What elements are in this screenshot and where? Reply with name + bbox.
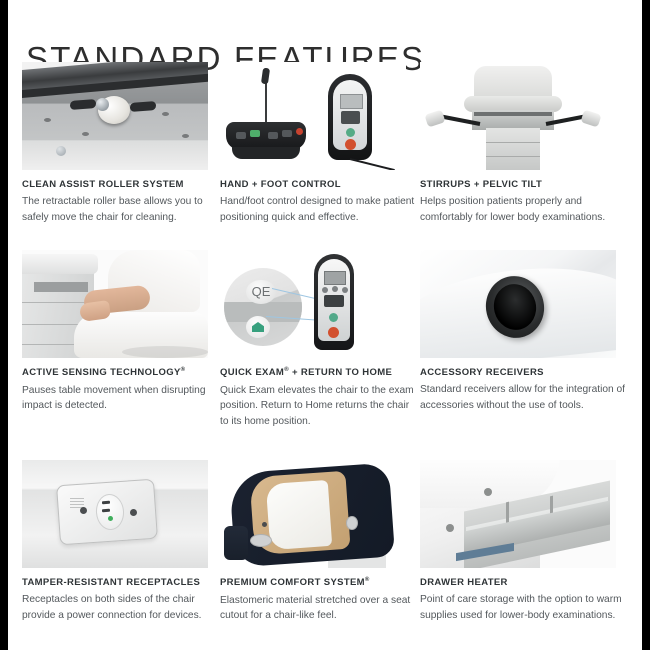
feature-image-clean-assist-roller-system bbox=[22, 62, 208, 170]
feature-image-hand-foot-control bbox=[220, 62, 406, 170]
feature-card-hand-foot-control: HAND + FOOT CONTROL Hand/foot control de… bbox=[220, 62, 416, 225]
brochure-page: STANDARD FEATURES CLEAN ASSIST ROLLER bbox=[8, 0, 642, 650]
feature-card-tamper-resistant-receptacles: TAMPER-RESISTANT RECEPTACLES Receptacles… bbox=[22, 460, 218, 623]
feature-body: Hand/foot control designed to make patie… bbox=[220, 194, 416, 225]
feature-title: PREMIUM COMFORT SYSTEM® bbox=[220, 577, 416, 590]
feature-title: ACTIVE SENSING TECHNOLOGY® bbox=[22, 367, 218, 380]
feature-body: Receptacles on both sides of the chair p… bbox=[22, 592, 218, 623]
feature-title: TAMPER-RESISTANT RECEPTACLES bbox=[22, 577, 218, 589]
feature-title-text: ACTIVE SENSING TECHNOLOGY bbox=[22, 367, 181, 378]
feature-card-drawer-heater: DRAWER HEATER Point of care storage with… bbox=[420, 460, 630, 623]
feature-image-accessory-receivers bbox=[420, 250, 616, 358]
features-row-1: CLEAN ASSIST ROLLER SYSTEM The retractab… bbox=[8, 62, 642, 250]
feature-body: Pauses table movement when disrupting im… bbox=[22, 383, 218, 414]
features-grid: CLEAN ASSIST ROLLER SYSTEM The retractab… bbox=[8, 62, 642, 650]
feature-image-tamper-resistant-receptacles bbox=[22, 460, 208, 568]
feature-title: CLEAN ASSIST ROLLER SYSTEM bbox=[22, 179, 218, 191]
feature-title-text: PREMIUM COMFORT SYSTEM bbox=[220, 577, 365, 588]
feature-body: Quick Exam elevates the chair to the exa… bbox=[220, 383, 416, 430]
feature-body: Elastomeric material stretched over a se… bbox=[220, 593, 416, 624]
feature-title: DRAWER HEATER bbox=[420, 577, 630, 589]
feature-title: STIRRUPS + PELVIC TILT bbox=[420, 179, 630, 191]
feature-body: Point of care storage with the option to… bbox=[420, 592, 628, 623]
feature-card-active-sensing-technology: ACTIVE SENSING TECHNOLOGY® Pauses table … bbox=[22, 250, 218, 414]
feature-image-drawer-heater bbox=[420, 460, 616, 568]
feature-body: The retractable roller base allows you t… bbox=[22, 194, 218, 225]
feature-title: ACCESSORY RECEIVERS bbox=[420, 367, 630, 379]
feature-card-accessory-receivers: ACCESSORY RECEIVERS Standard receivers a… bbox=[420, 250, 630, 413]
feature-image-premium-comfort-system bbox=[220, 460, 406, 568]
feature-title-text: QUICK EXAM bbox=[220, 367, 284, 378]
registered-trademark-icon: ® bbox=[365, 577, 370, 583]
feature-title: HAND + FOOT CONTROL bbox=[220, 179, 416, 191]
feature-card-premium-comfort-system: PREMIUM COMFORT SYSTEM® Elastomeric mate… bbox=[220, 460, 416, 624]
feature-body: Standard receivers allow for the integra… bbox=[420, 382, 628, 413]
features-row-3: TAMPER-RESISTANT RECEPTACLES Receptacles… bbox=[8, 460, 642, 650]
feature-card-quick-exam-return-to-home: QE bbox=[220, 250, 416, 429]
registered-trademark-icon: ® bbox=[181, 367, 186, 373]
quick-exam-button-label: QE bbox=[246, 280, 276, 304]
feature-card-stirrups-pelvic-tilt: STIRRUPS + PELVIC TILT Helps position pa… bbox=[420, 62, 630, 225]
feature-image-stirrups-pelvic-tilt bbox=[420, 62, 616, 170]
home-icon bbox=[246, 316, 270, 338]
feature-card-clean-assist-roller-system: CLEAN ASSIST ROLLER SYSTEM The retractab… bbox=[22, 62, 218, 225]
features-row-2: ACTIVE SENSING TECHNOLOGY® Pauses table … bbox=[8, 250, 642, 460]
feature-title: QUICK EXAM® + RETURN TO HOME bbox=[220, 367, 416, 380]
feature-title-suffix: + RETURN TO HOME bbox=[289, 367, 392, 378]
feature-body: Helps position patients properly and com… bbox=[420, 194, 628, 225]
feature-image-quick-exam-return-to-home: QE bbox=[220, 250, 406, 358]
feature-image-active-sensing-technology bbox=[22, 250, 208, 358]
